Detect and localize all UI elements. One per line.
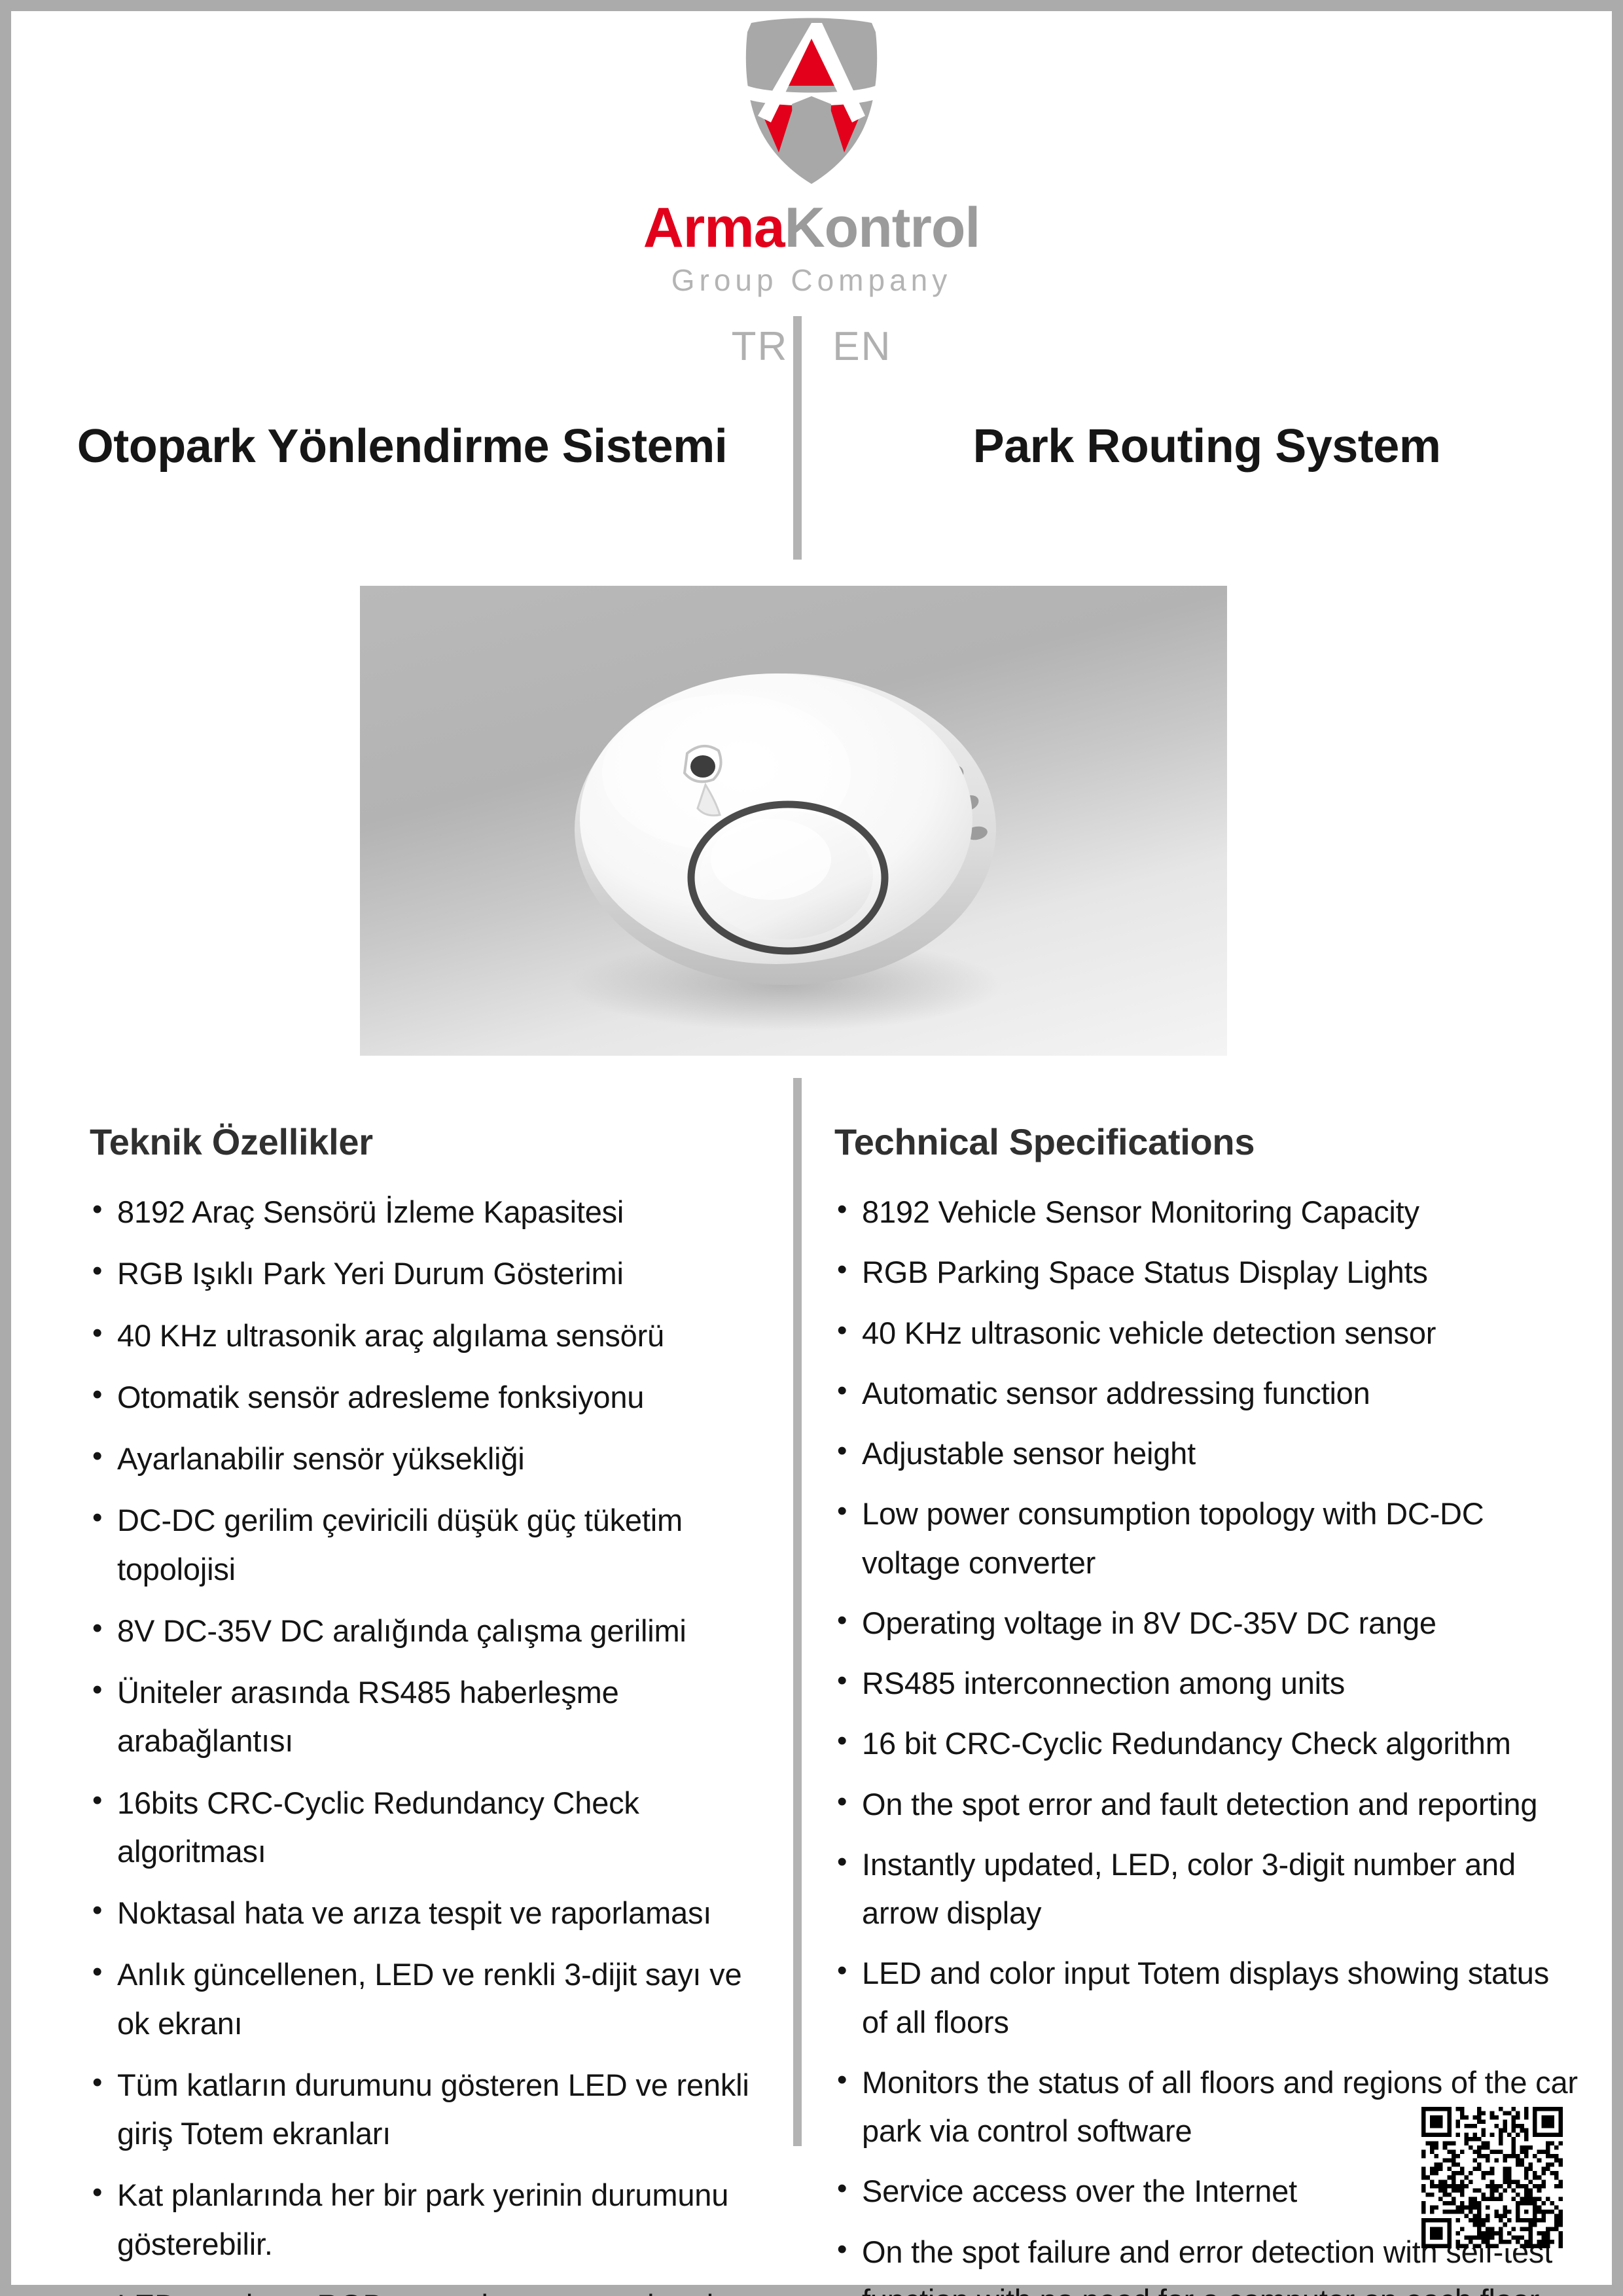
spec-item: On the spot error and fault detection an… <box>834 1780 1580 1829</box>
spec-item: Tüm katların durumunu gösteren LED ve re… <box>90 2061 764 2159</box>
spec-item: Automatic sensor addressing function <box>834 1369 1580 1418</box>
spec-item: RS485 interconnection among units <box>834 1659 1580 1708</box>
language-tabs: TREN <box>11 324 1612 367</box>
product-photo <box>360 586 1227 1056</box>
spec-item: Noktasal hata ve arıza tespit ve raporla… <box>90 1889 764 1937</box>
brand-name-red: Arma <box>643 196 785 259</box>
spec-item: Low power consumption topology with DC-D… <box>834 1490 1580 1587</box>
spec-item: 8192 Araç Sensörü İzleme Kapasitesi <box>90 1188 764 1236</box>
armakontrol-shield-logo-icon <box>674 18 949 188</box>
spec-list-tr: 8192 Araç Sensörü İzleme Kapasitesi RGB … <box>90 1188 764 2296</box>
page-title-tr: Otopark Yönlendirme Sistemi <box>11 417 793 476</box>
qr-code-icon[interactable] <box>1421 2107 1563 2248</box>
brand-tagline: Group Company <box>11 265 1612 295</box>
spec-item: RGB Parking Space Status Display Lights <box>834 1248 1580 1297</box>
spec-item: Adjustable sensor height <box>834 1429 1580 1478</box>
spec-item: 40 KHz ultrasonik araç algılama sensörü <box>90 1312 764 1360</box>
spec-item: Instantly updated, LED, color 3-digit nu… <box>834 1840 1580 1938</box>
spec-item: Kat planlarında her bir park yerinin dur… <box>90 2171 764 2269</box>
spec-item: 8V DC-35V DC aralığında çalışma gerilimi <box>90 1607 764 1655</box>
spec-item: 40 KHz ultrasonic vehicle detection sens… <box>834 1309 1580 1357</box>
page-titles: Otopark Yönlendirme Sistemi Park Routing… <box>11 417 1612 495</box>
spec-item: Üniteler arasında RS485 haberleşme araba… <box>90 1668 764 1766</box>
spec-item: 8192 Vehicle Sensor Monitoring Capacity <box>834 1188 1580 1236</box>
spec-item: LED and color input Totem displays showi… <box>834 1949 1580 2047</box>
spec-item: Otomatik sensör adresleme fonksiyonu <box>90 1373 764 1422</box>
page-sheet: ArmaKontrol Group Company TREN Otopark Y… <box>11 11 1612 2285</box>
spec-item: LED matrix ve RGB sayı, ok ve totem ekra… <box>90 2282 764 2296</box>
spec-column-tr: Teknik Özellikler 8192 Araç Sensörü İzle… <box>90 1124 764 2296</box>
spec-item: 16 bit CRC-Cyclic Redundancy Check algor… <box>834 1719 1580 1768</box>
spec-item: DC-DC gerilim çeviricili düşük güç tüket… <box>90 1496 764 1594</box>
spec-item: Ayarlanabilir sensör yüksekliği <box>90 1435 764 1483</box>
spec-item: RGB Işıklı Park Yeri Durum Gösterimi <box>90 1249 764 1298</box>
column-divider-bottom <box>793 1078 802 2146</box>
brand-logo-block: ArmaKontrol Group Company <box>11 18 1612 295</box>
brand-name-gray: Kontrol <box>785 196 980 259</box>
brand-wordmark: ArmaKontrol <box>11 200 1612 256</box>
spec-item: Anlık güncellenen, LED ve renkli 3-dijit… <box>90 1950 764 2048</box>
spec-item: Operating voltage in 8V DC-35V DC range <box>834 1599 1580 1647</box>
spec-item: 16bits CRC-Cyclic Redundancy Check algor… <box>90 1779 764 1876</box>
page-title-en: Park Routing System <box>802 417 1612 476</box>
tab-language-en[interactable]: EN <box>810 327 914 367</box>
spec-heading-tr: Teknik Özellikler <box>90 1124 764 1160</box>
spec-heading-en: Technical Specifications <box>834 1124 1580 1160</box>
page-frame: ArmaKontrol Group Company TREN Otopark Y… <box>0 0 1623 2296</box>
